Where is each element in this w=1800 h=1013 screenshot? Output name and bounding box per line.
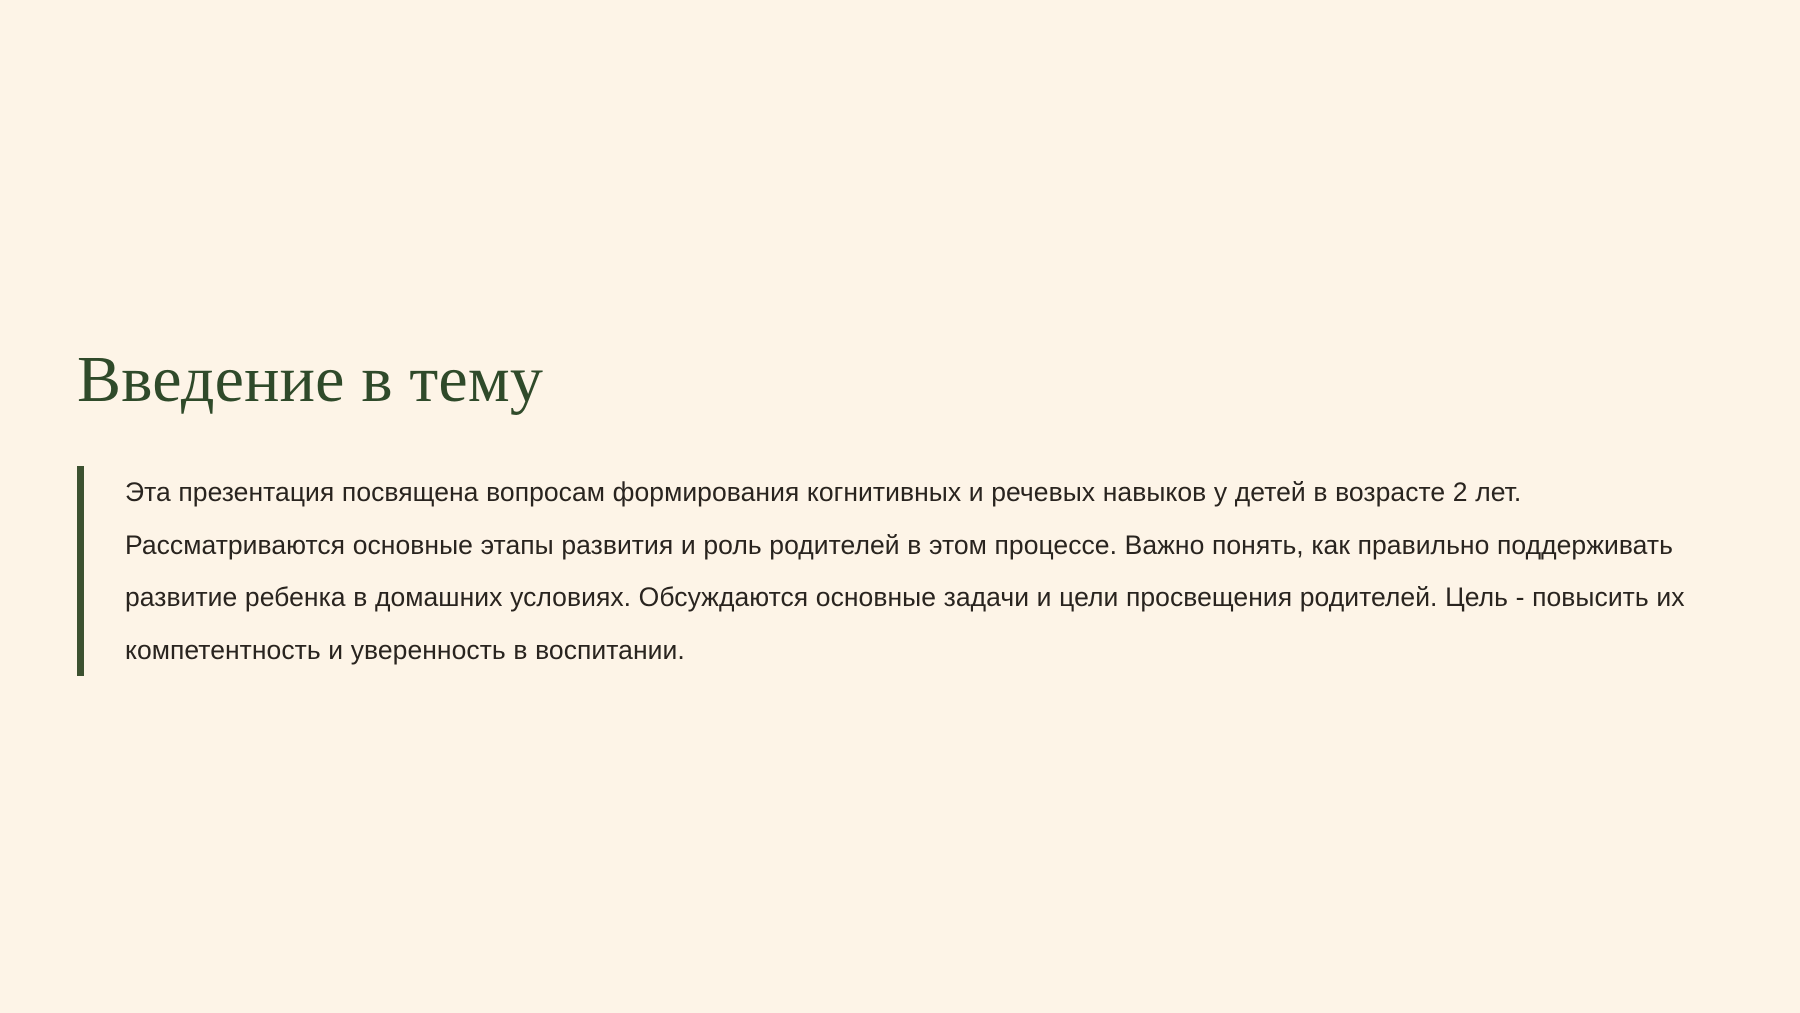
presentation-slide: Введение в тему Эта презентация посвящен… — [0, 0, 1800, 1013]
slide-content-area: Введение в тему Эта презентация посвящен… — [77, 0, 1723, 1013]
body-text-block: Эта презентация посвящена вопросам форми… — [77, 466, 1727, 676]
slide-body-paragraph: Эта презентация посвящена вопросам форми… — [84, 466, 1727, 676]
slide-title: Введение в тему — [77, 343, 543, 417]
accent-bar — [77, 466, 84, 676]
